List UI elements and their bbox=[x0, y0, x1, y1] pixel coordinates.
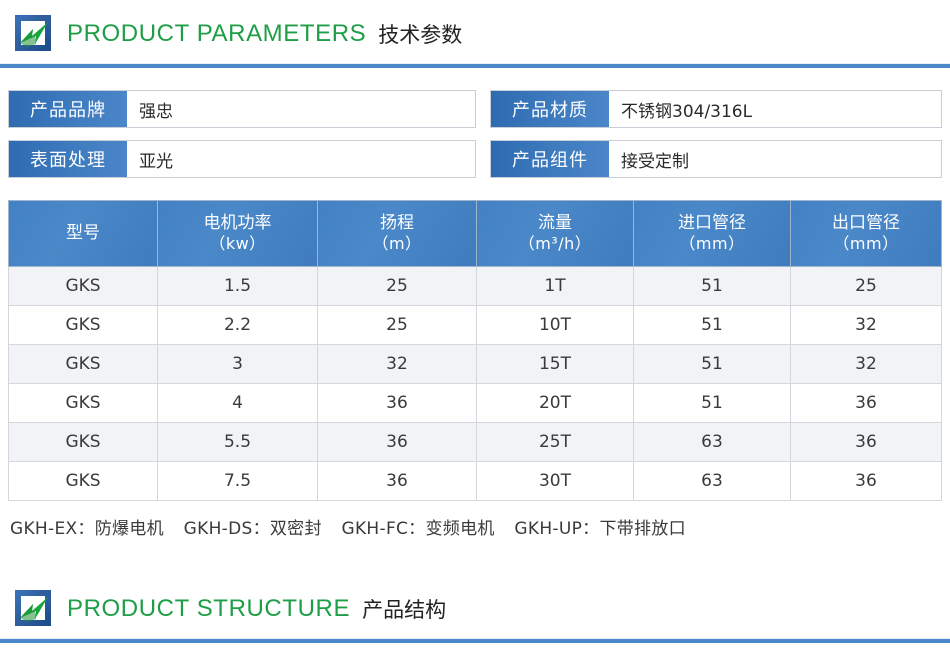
table-cell: 36 bbox=[318, 462, 477, 501]
table-cell: 32 bbox=[791, 345, 942, 384]
table-row: GKS 2.2 25 10T 51 32 bbox=[9, 306, 942, 345]
spec-row-material: 产品材质 不锈钢304/316L bbox=[490, 90, 942, 128]
table-row: GKS 3 32 15T 51 32 bbox=[9, 345, 942, 384]
spec-label: 产品材质 bbox=[491, 91, 609, 127]
table-cell: 25T bbox=[477, 423, 634, 462]
table-cell: GKS bbox=[9, 462, 158, 501]
header-unit: （m） bbox=[319, 234, 475, 254]
table-cell: 5.5 bbox=[158, 423, 318, 462]
table-cell: 7.5 bbox=[158, 462, 318, 501]
table-cell: 15T bbox=[477, 345, 634, 384]
table-cell: 51 bbox=[634, 306, 791, 345]
table-cell: 25 bbox=[318, 306, 477, 345]
table-cell: 3 bbox=[158, 345, 318, 384]
table-cell: 4 bbox=[158, 384, 318, 423]
table-cell: 25 bbox=[791, 267, 942, 306]
spec-label: 表面处理 bbox=[9, 141, 127, 177]
table-cell: 32 bbox=[791, 306, 942, 345]
table-cell: 36 bbox=[318, 384, 477, 423]
table-header-cell: 型号 bbox=[9, 201, 158, 267]
table-cell: 1T bbox=[477, 267, 634, 306]
table-cell: 30T bbox=[477, 462, 634, 501]
header-name: 出口管径 bbox=[832, 213, 900, 233]
table-cell: 63 bbox=[634, 462, 791, 501]
table-cell: GKS bbox=[9, 306, 158, 345]
table-cell: 51 bbox=[634, 345, 791, 384]
logo-bolt-glyph bbox=[17, 595, 53, 627]
spec-row-components: 产品组件 接受定制 bbox=[490, 140, 942, 178]
header-name: 扬程 bbox=[380, 213, 414, 233]
spec-row-brand: 产品品牌 强忠 bbox=[8, 90, 476, 128]
table-cell: 51 bbox=[634, 267, 791, 306]
table-row: GKS 4 36 20T 51 36 bbox=[9, 384, 942, 423]
header-name: 进口管径 bbox=[678, 213, 746, 233]
spec-row-surface: 表面处理 亚光 bbox=[8, 140, 476, 178]
header-name: 电机功率 bbox=[204, 213, 272, 233]
table-cell: GKS bbox=[9, 267, 158, 306]
parameter-table: 型号 电机功率 （kw） 扬程 （m） 流量 （m³/h） 进口管径 （mm） … bbox=[8, 200, 942, 501]
logo-bolt-glyph bbox=[17, 20, 53, 52]
table-header-cell: 电机功率 （kw） bbox=[158, 201, 318, 267]
spec-value: 接受定制 bbox=[609, 141, 941, 177]
table-note-item: GKH-UP：下带排放口 bbox=[514, 519, 686, 539]
header-rule bbox=[0, 639, 950, 643]
header-unit: （m³/h） bbox=[478, 234, 632, 254]
table-header-cell: 出口管径 （mm） bbox=[791, 201, 942, 267]
section-header-parameters: PRODUCT PARAMETERS 技术参数 bbox=[0, 0, 950, 68]
spec-label: 产品品牌 bbox=[9, 91, 127, 127]
table-note-item: GKH-FC：变频电机 bbox=[342, 519, 495, 539]
table-cell: GKS bbox=[9, 384, 158, 423]
section-title-cn: 产品结构 bbox=[362, 594, 446, 624]
section-header-structure: PRODUCT STRUCTURE 产品结构 bbox=[0, 575, 950, 643]
header-name: 型号 bbox=[66, 223, 100, 243]
table-note-item: GKH-EX：防爆电机 bbox=[10, 519, 164, 539]
table-cell: 10T bbox=[477, 306, 634, 345]
table-cell: GKS bbox=[9, 423, 158, 462]
logo-bolt-square-icon bbox=[13, 14, 53, 54]
header-name: 流量 bbox=[538, 213, 572, 233]
header-unit: （mm） bbox=[792, 234, 940, 254]
table-cell: 25 bbox=[318, 267, 477, 306]
table-cell: 36 bbox=[791, 462, 942, 501]
table-row: GKS 5.5 36 25T 63 36 bbox=[9, 423, 942, 462]
table-cell: 51 bbox=[634, 384, 791, 423]
table-cell: 2.2 bbox=[158, 306, 318, 345]
section-title-en: PRODUCT PARAMETERS bbox=[67, 20, 366, 48]
table-cell: 20T bbox=[477, 384, 634, 423]
table-row: GKS 7.5 36 30T 63 36 bbox=[9, 462, 942, 501]
table-header-cell: 扬程 （m） bbox=[318, 201, 477, 267]
table-row: GKS 1.5 25 1T 51 25 bbox=[9, 267, 942, 306]
table-cell: 32 bbox=[318, 345, 477, 384]
table-header-row: 型号 电机功率 （kw） 扬程 （m） 流量 （m³/h） 进口管径 （mm） … bbox=[9, 201, 942, 267]
table-cell: 1.5 bbox=[158, 267, 318, 306]
header-rule bbox=[0, 64, 950, 68]
header-unit: （mm） bbox=[635, 234, 789, 254]
table-note: GKH-EX：防爆电机 GKH-DS：双密封 GKH-FC：变频电机 GKH-U… bbox=[10, 514, 950, 539]
table-cell: 36 bbox=[791, 384, 942, 423]
spec-value: 亚光 bbox=[127, 141, 475, 177]
table-cell: 63 bbox=[634, 423, 791, 462]
table-header-cell: 流量 （m³/h） bbox=[477, 201, 634, 267]
table-header-cell: 进口管径 （mm） bbox=[634, 201, 791, 267]
table-cell: GKS bbox=[9, 345, 158, 384]
spec-value: 强忠 bbox=[127, 91, 475, 127]
header-unit: （kw） bbox=[159, 234, 316, 254]
section-title-en: PRODUCT STRUCTURE bbox=[67, 595, 350, 623]
table-cell: 36 bbox=[318, 423, 477, 462]
table-cell: 36 bbox=[791, 423, 942, 462]
spec-grid: 产品品牌 强忠 产品材质 不锈钢304/316L 表面处理 亚光 产品组件 接受… bbox=[8, 90, 942, 178]
spec-value: 不锈钢304/316L bbox=[609, 91, 941, 127]
spec-label: 产品组件 bbox=[491, 141, 609, 177]
section-title-cn: 技术参数 bbox=[378, 19, 462, 49]
table-note-item: GKH-DS：双密封 bbox=[184, 519, 322, 539]
logo-bolt-square-icon bbox=[13, 589, 53, 629]
